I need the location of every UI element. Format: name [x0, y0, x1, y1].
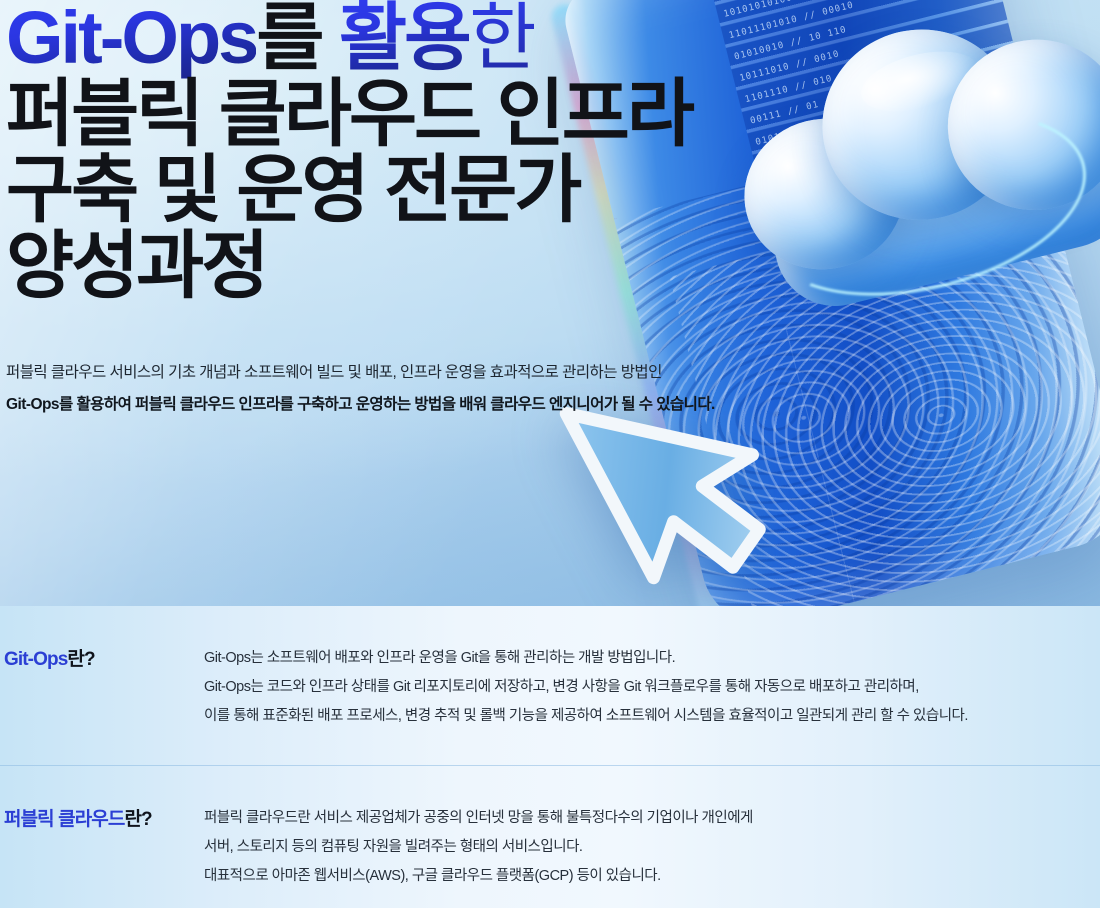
title-particle-reul: 를 [256, 0, 321, 79]
info-row-gitops: Git-Ops란? Git-Ops는 소프트웨어 배포와 인프라 운영을 Git… [0, 606, 1100, 765]
hero-description-line-2: Git-Ops를 활용하여 퍼블릭 클라우드 인프라를 구축하고 운영하는 방법… [6, 392, 760, 417]
circuit-traces [786, 250, 1100, 606]
cloud-lobe-center [802, 9, 1038, 241]
title-line-1: Git-Ops를 활용한 [6, 0, 760, 76]
binary-code-band: 10 001 // 01 10 010 932 - 8009 // 101010… [704, 0, 1100, 279]
cloud-specular-highlight [855, 41, 984, 122]
binary-code-text: 10 001 // 01 10 010 932 - 8009 // 101010… [711, 0, 1079, 175]
cloud-3d-icon [711, 0, 1100, 362]
banner-page: 10 001 // 01 10 010 932 - 8009 // 101010… [0, 0, 1100, 908]
cloud-rim-light [744, 82, 1100, 327]
info-label-highlight: 퍼블릭 클라우드 [4, 809, 124, 830]
info-body-line: Git-Ops는 코드와 인프라 상태를 Git 리포지토리에 저장하고, 변경… [204, 673, 1100, 702]
title-gitops: Git-Ops [6, 0, 256, 79]
hero-section: 10 001 // 01 10 010 932 - 8009 // 101010… [0, 0, 1100, 606]
title-han: 한 [469, 0, 534, 79]
cloud-base [762, 115, 1100, 319]
info-body-gitops: Git-Ops는 소프트웨어 배포와 인프라 운영을 Git을 통해 관리하는 … [200, 644, 1100, 731]
hero-description-line-1: 퍼블릭 클라우드 서비스의 기초 개념과 소프트웨어 빌드 및 배포, 인프라 … [6, 360, 760, 385]
hero-text-block: Git-Ops를 활용한 퍼블릭 클라우드 인프라 구축 및 운영 전문가 양성… [0, 0, 760, 417]
info-body-line: 대표적으로 아마존 웹서비스(AWS), 구글 클라우드 플랫폼(GCP) 등이… [204, 862, 1100, 891]
info-label-suffix: 란? [124, 809, 151, 830]
info-body-line: 이를 통해 표준화된 배포 프로세스, 변경 추적 및 롤백 기능을 제공하여 … [204, 702, 1100, 731]
title-line-4: 양성과정 [6, 228, 760, 304]
info-section: Git-Ops란? Git-Ops는 소프트웨어 배포와 인프라 운영을 Git… [0, 606, 1100, 908]
info-label-public-cloud: 퍼블릭 클라우드란? [0, 804, 200, 831]
info-body-line: Git-Ops는 소프트웨어 배포와 인프라 운영을 Git을 통해 관리하는 … [204, 644, 1100, 673]
hero-description: 퍼블릭 클라우드 서비스의 기초 개념과 소프트웨어 빌드 및 배포, 인프라 … [6, 360, 760, 417]
title-line-3: 구축 및 운영 전문가 [6, 152, 760, 228]
info-label-gitops: Git-Ops란? [0, 644, 200, 671]
info-body-line: 퍼블릭 클라우드란 서비스 제공업체가 공중의 인터넷 망을 통해 불특정다수의… [204, 804, 1100, 833]
cloud-lobe-right [930, 21, 1100, 229]
info-row-public-cloud: 퍼블릭 클라우드란? 퍼블릭 클라우드란 서비스 제공업체가 공중의 인터넷 망… [0, 765, 1100, 908]
info-label-highlight: Git-Ops [4, 649, 67, 670]
title-hwalyong: 활용 [321, 0, 469, 79]
info-body-public-cloud: 퍼블릭 클라우드란 서비스 제공업체가 공중의 인터넷 망을 통해 불특정다수의… [200, 804, 1100, 891]
info-label-suffix: 란? [67, 649, 94, 670]
info-body-line: 서버, 스토리지 등의 컴퓨팅 자원을 빌려주는 형태의 서비스입니다. [204, 833, 1100, 862]
title-line-2: 퍼블릭 클라우드 인프라 [6, 76, 760, 152]
